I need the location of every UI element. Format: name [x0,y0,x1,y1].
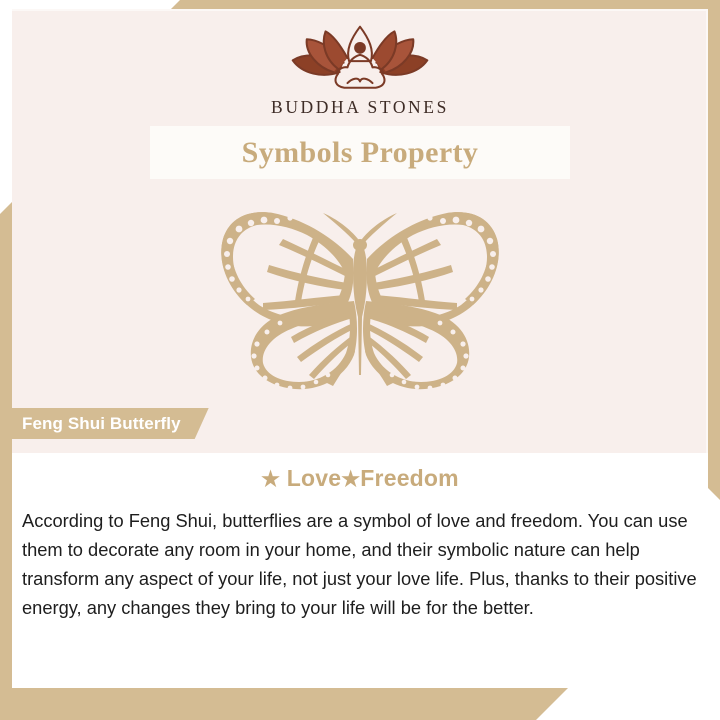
ribbon-label-text: Feng Shui Butterfly [22,414,181,434]
page-title: Symbols Property [242,136,479,170]
ribbon-label: Feng Shui Butterfly [0,408,209,439]
lotus-meditation-figure-icon [280,22,440,94]
content-subheading: ★ Love★Freedom [12,453,708,492]
subheading-word-love: Love [287,465,341,491]
star-icon-left: ★ [261,468,280,491]
content-paragraph: According to Feng Shui, butterflies are … [12,492,708,622]
butterfly-illustration [0,205,720,400]
star-icon-mid: ★ [341,468,360,491]
content-panel: ★ Love★Freedom According to Feng Shui, b… [12,453,708,688]
promo-card: BUDDHA STONES Symbols Property [0,0,720,720]
monarch-butterfly-icon [195,205,525,400]
brand-logo: BUDDHA STONES [0,22,720,118]
frame-bottom-band [0,686,720,720]
title-banner: Symbols Property [150,126,570,179]
subheading-word-freedom: Freedom [360,465,459,491]
brand-wordmark: BUDDHA STONES [271,97,449,118]
